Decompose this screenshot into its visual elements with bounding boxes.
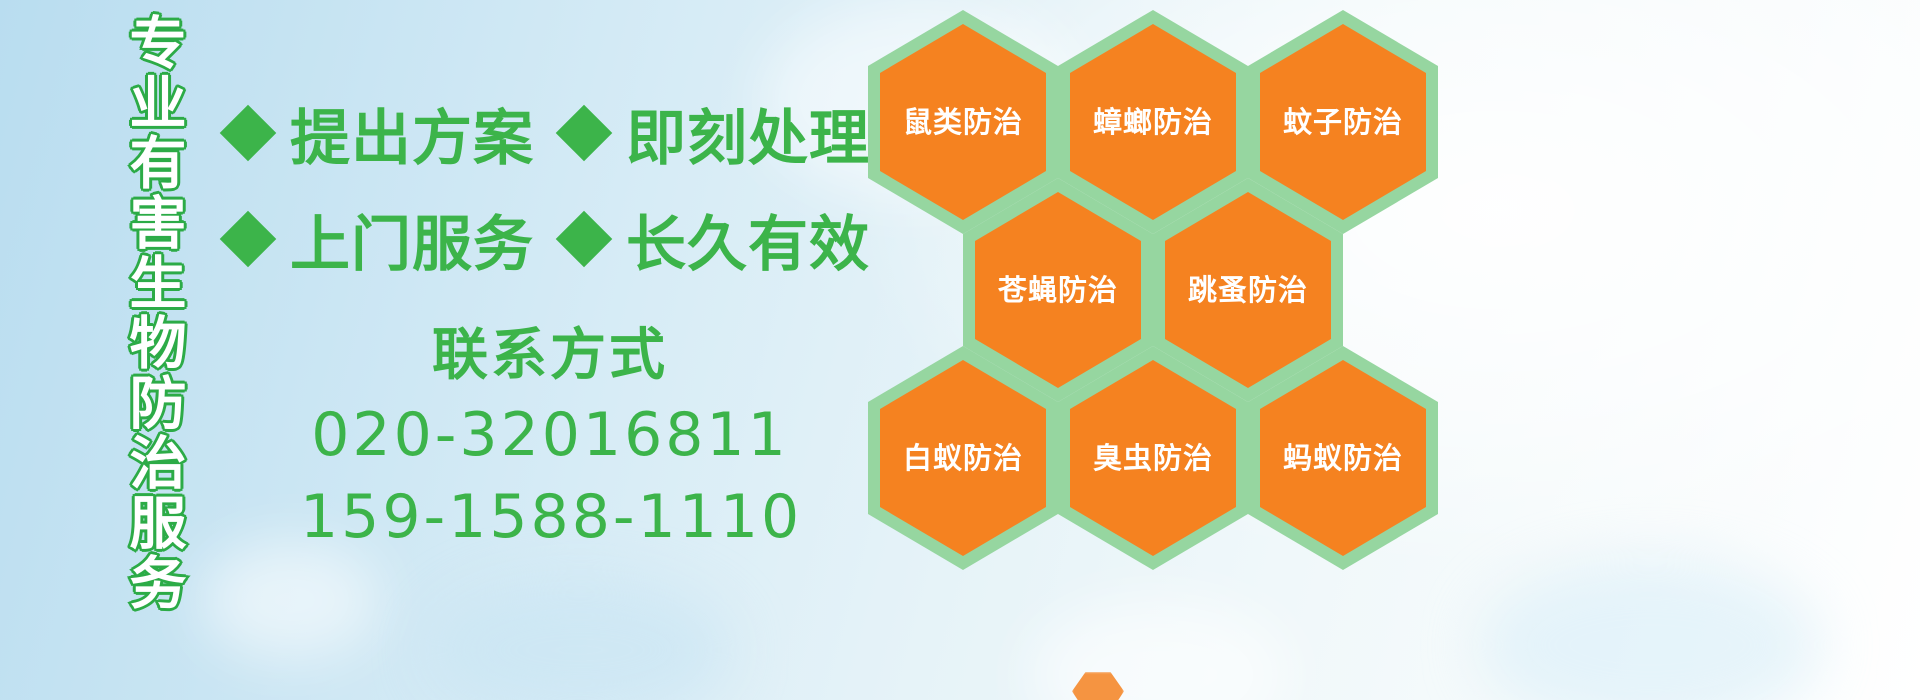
background-blob [1480, 560, 1820, 700]
diamond-bullet-icon [556, 105, 613, 162]
service-label: 蚂蚁防治 [1283, 444, 1403, 473]
service-label: 跳蚤防治 [1188, 276, 1308, 305]
vertical-title-char: 物 [130, 314, 187, 374]
vertical-title-char: 业 [130, 74, 187, 134]
feature-label: 上门服务 [290, 196, 534, 283]
service-label: 蟑螂防治 [1093, 108, 1213, 137]
promo-banner: 专 业 有 害 生 物 防 治 服 务 提出方案 即刻处理 上门服务 长久有效 … [0, 0, 1920, 700]
vertical-title: 专 业 有 害 生 物 防 治 服 务 [110, 14, 206, 570]
feature-label: 即刻处理 [626, 90, 870, 177]
vertical-title-char: 治 [130, 434, 187, 494]
hex-inner: 白蚁防治 [880, 360, 1046, 556]
hex-inner: 蚂蚁防治 [1260, 360, 1426, 556]
diamond-bullet-icon [220, 211, 277, 268]
phone-number-landline[interactable]: 020-32016811 [300, 394, 800, 476]
vertical-title-char: 专 [130, 14, 187, 74]
background-blob [200, 540, 380, 660]
hex-inner: 鼠类防治 [880, 24, 1046, 220]
feature-list: 提出方案 即刻处理 上门服务 长久有效 [228, 80, 878, 292]
hex-inner: 蚊子防治 [1260, 24, 1426, 220]
diamond-bullet-icon [220, 105, 277, 162]
vertical-title-char: 生 [130, 254, 187, 314]
background-blob [430, 580, 730, 700]
diamond-bullet-icon [556, 211, 613, 268]
service-honeycomb: 鼠类防治 蟑螂防治 蚊子防治 苍蝇防治 跳蚤防治 白蚁防治 [860, 0, 1460, 560]
hex-inner: 苍蝇防治 [975, 192, 1141, 388]
feature-row: 上门服务 长久有效 [228, 186, 878, 292]
phone-number-mobile[interactable]: 159-1588-1110 [300, 476, 800, 558]
decorative-hex-sliver [1072, 672, 1124, 700]
vertical-title-char: 害 [130, 194, 187, 254]
vertical-title-char: 服 [130, 494, 187, 554]
hex-inner: 跳蚤防治 [1165, 192, 1331, 388]
feature-row: 提出方案 即刻处理 [228, 80, 878, 186]
service-label: 白蚁防治 [903, 444, 1023, 473]
vertical-title-char: 务 [130, 554, 187, 614]
hex-inner: 臭虫防治 [1070, 360, 1236, 556]
background-blob [1030, 600, 1290, 700]
service-label: 苍蝇防治 [998, 276, 1118, 305]
service-label: 蚊子防治 [1283, 108, 1403, 137]
service-label: 鼠类防治 [903, 108, 1023, 137]
hex-inner: 蟑螂防治 [1070, 24, 1236, 220]
contact-title: 联系方式 [300, 318, 800, 394]
feature-label: 提出方案 [290, 90, 534, 177]
feature-label: 长久有效 [626, 196, 870, 283]
contact-block: 联系方式 020-32016811 159-1588-1110 [300, 318, 800, 558]
vertical-title-char: 防 [130, 374, 187, 434]
vertical-title-char: 有 [130, 134, 187, 194]
service-label: 臭虫防治 [1093, 444, 1213, 473]
